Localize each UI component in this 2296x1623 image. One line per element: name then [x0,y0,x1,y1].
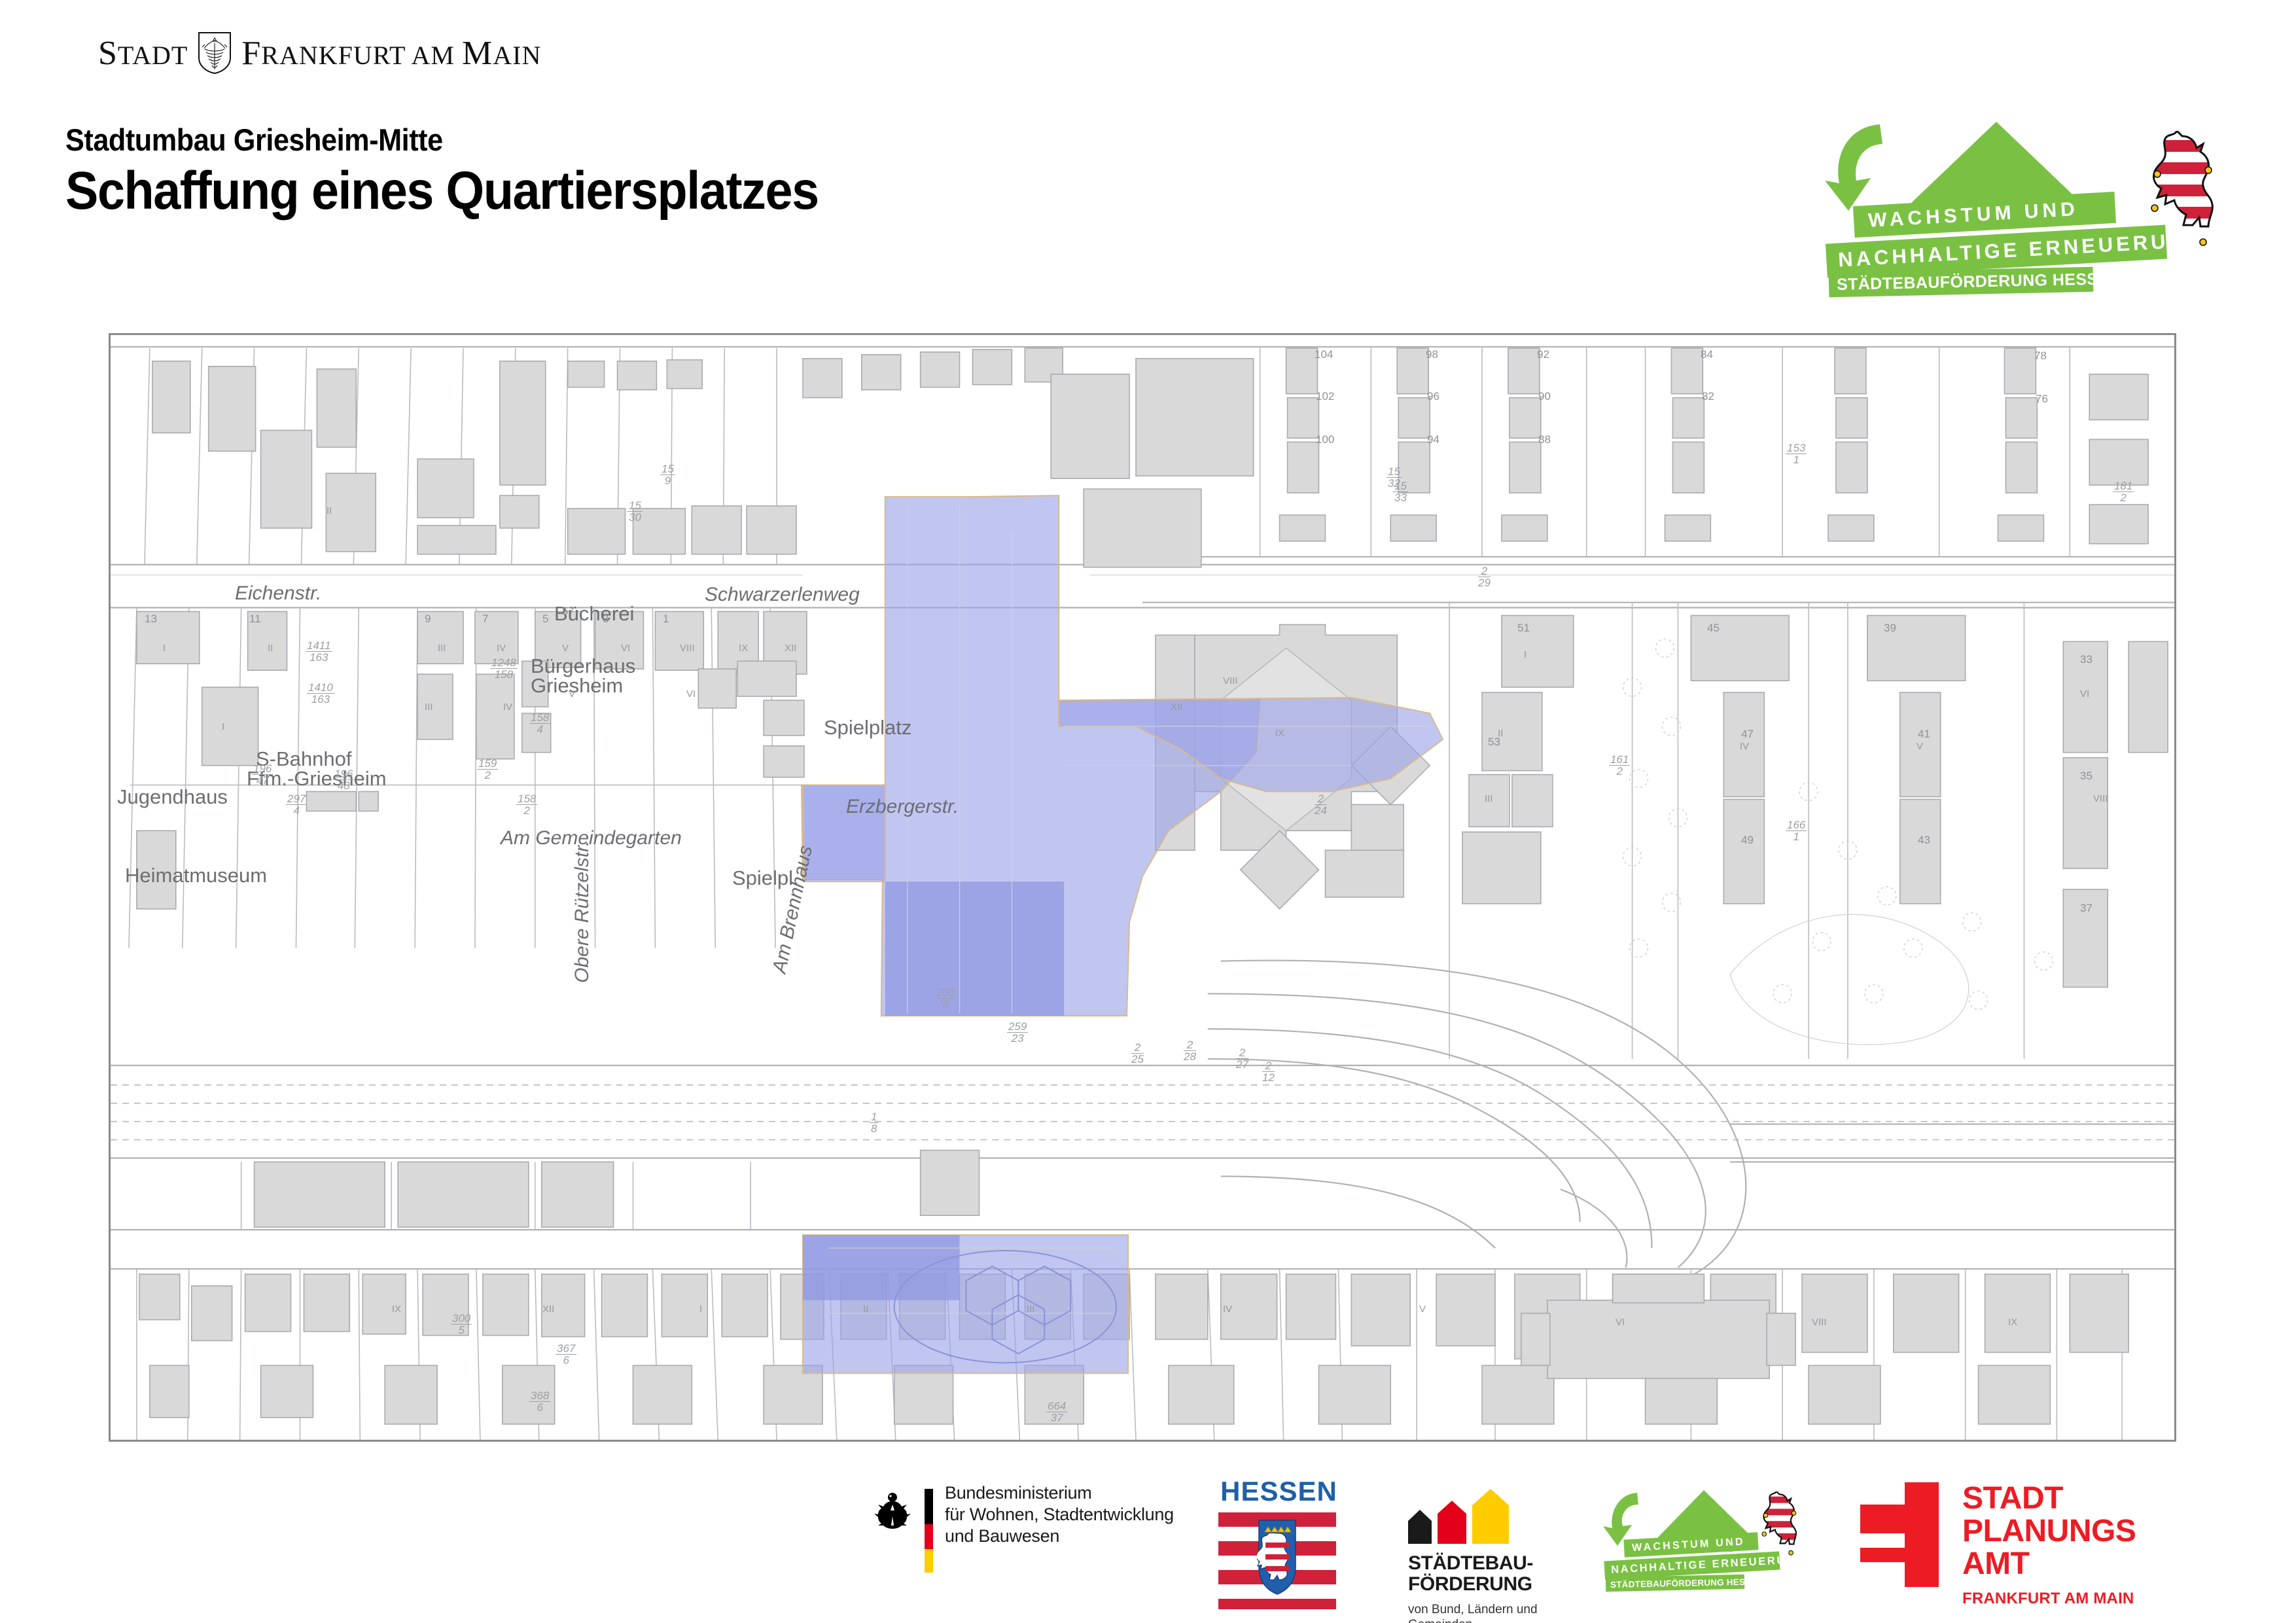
program-logo-footer: WACHSTUM UND NACHHALTIGE ERNEUERUNG STÄD… [1599,1488,1815,1586]
staedtebau-sub-line2: Gemeinden [1408,1617,1559,1623]
stadtplanungsamt-line3: AMT [1962,1548,2136,1580]
page-title: Schaffung eines Quartiersplatzes [65,160,819,222]
stadtplanungsamt-line1: STADT [1962,1482,2136,1515]
stadtplanungsamt-sub: FRANKFURT AM MAIN [1962,1590,2136,1608]
hessen-label: HESSEN [1218,1476,1339,1507]
staedtebau-sub: von Bund, Ländern und Gemeinden [1408,1602,1559,1623]
bmwsb-line1: Bundesministerium [945,1482,1174,1504]
bmwsb-line2: für Wohnen, Stadtentwicklung [945,1504,1174,1525]
city-of-frankfurt-logo: STADT FRANKFURT AM MAIN [98,31,541,75]
three-houses-icon [1408,1489,1559,1544]
program-logo-wachstum-und-nachhaltige-erneuerung: WACHSTUM UND NACHHALTIGE ERNEUERUNG STÄD… [1820,118,2225,262]
stadtplanungsamt-logo: STADT PLANUNGS AMT FRANKFURT AM MAIN [1854,1482,2136,1608]
hessen-flag-icon [1218,1512,1336,1609]
german-flag-bar-icon [925,1489,933,1573]
hessen-lion-icon [2140,131,2225,252]
bmwsb-line3: und Bauwesen [945,1525,1174,1547]
hessen-logo: HESSEN [1218,1476,1339,1609]
hessen-crest-icon [1257,1518,1298,1596]
bundesadler-icon [872,1490,913,1536]
city-logo-text-frankfurt: FRANKFURT AM MAIN [241,34,541,73]
bmwsb-logo: Bundesministerium für Wohnen, Stadtentwi… [872,1482,1174,1573]
cadastral-map[interactable]: .pl { fill:none; stroke:#b9bcc0; stroke-… [109,333,2176,1442]
poster-page: STADT FRANKFURT AM MAIN [0,0,2296,1623]
staedtebaufoerderung-logo: STÄDTEBAU- FÖRDERUNG von Bund, Ländern u… [1408,1489,1559,1623]
staedtebau-title-line2: FÖRDERUNG [1408,1574,1559,1595]
frankfurt-eagle-shield-icon [197,31,232,75]
stadtplanungsamt-line2: PLANUNGS [1962,1515,2136,1548]
program-footer-band3: STÄDTEBAUFÖRDERUNG HESSEN [1606,1575,1744,1592]
map-drawing: .pl { fill:none; stroke:#b9bcc0; stroke-… [111,335,2174,1440]
stadtplanungsamt-mark-icon [1854,1482,1939,1587]
staedtebau-sub-line1: von Bund, Ländern und [1408,1602,1559,1617]
staedtebau-title-line1: STÄDTEBAU- [1408,1553,1559,1574]
stadtplanungsamt-text: STADT PLANUNGS AMT FRANKFURT AM MAIN [1962,1482,2136,1608]
hessen-lion-icon-small [1756,1491,1803,1558]
poster-kicker: Stadtumbau Griesheim-Mitte [65,122,443,158]
bmwsb-text: Bundesministerium für Wohnen, Stadtentwi… [945,1482,1174,1547]
city-logo-text-stadt: STADT [98,34,188,73]
program-band-line3: STÄDTEBAUFÖRDERUNG HESSEN [1829,267,2094,297]
staedtebau-title: STÄDTEBAU- FÖRDERUNG [1408,1553,1559,1596]
footer-logo-bar: Bundesministerium für Wohnen, Stadtentwi… [0,1469,2296,1623]
